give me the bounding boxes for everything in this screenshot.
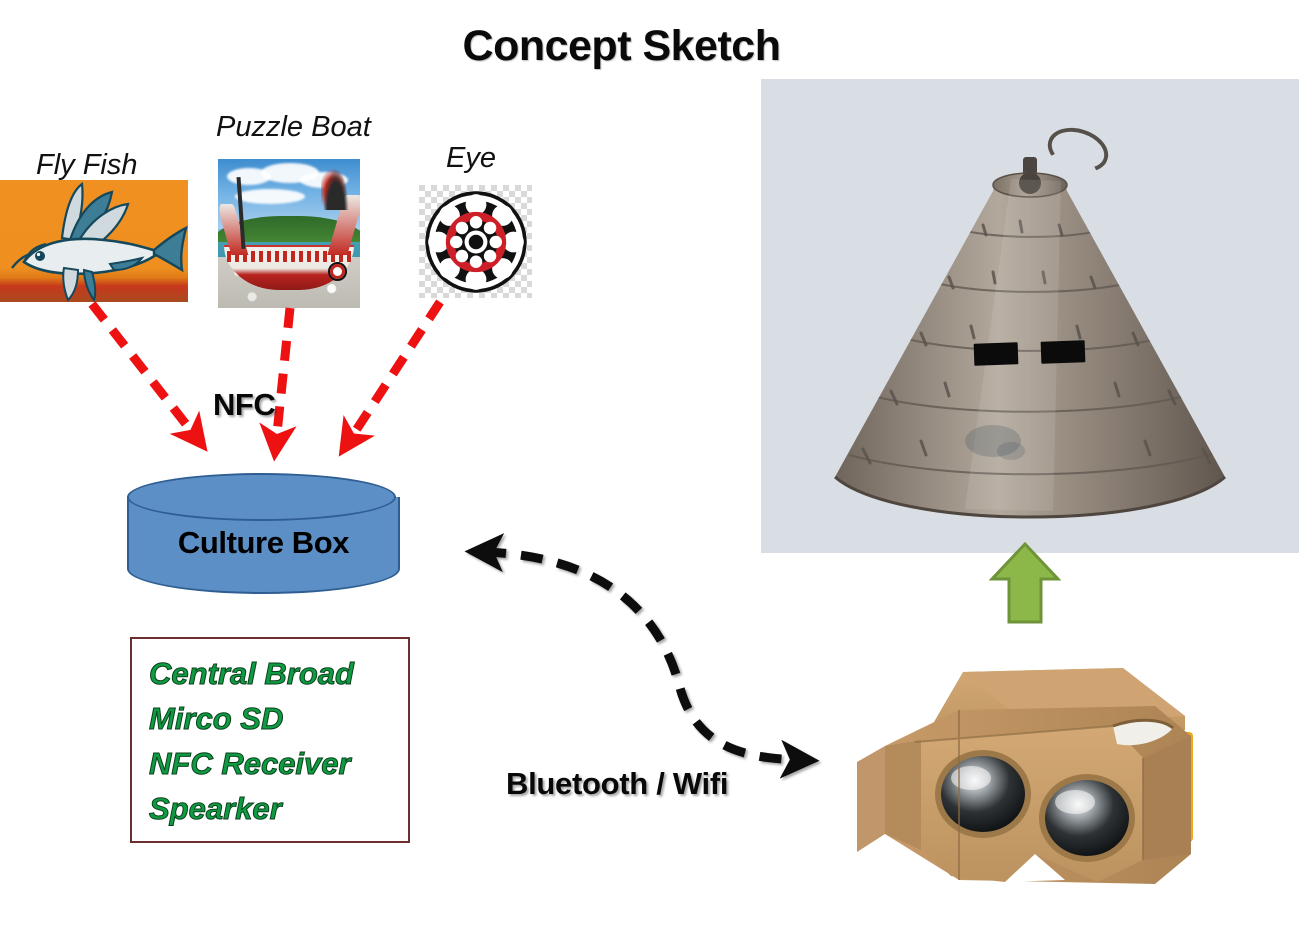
silver-conical-helmet-photo	[761, 79, 1299, 553]
eye-of-the-boat-icon	[424, 190, 528, 294]
helmet-eye-slit-right	[1041, 340, 1086, 364]
source-label-puzzle-boat: Puzzle Boat	[216, 111, 371, 144]
tao-canoe-photo-image	[218, 159, 360, 308]
vr-lens-left	[941, 756, 1025, 832]
vr-lens-right	[1045, 780, 1129, 856]
flying-fish-painting-image	[0, 180, 188, 302]
spec-list-item: Central Broad	[149, 651, 408, 696]
spec-list-item: Mirco SD	[149, 696, 408, 741]
source-label-eye: Eye	[446, 142, 496, 175]
slide-canvas: Concept Sketch Fly Fish Puzzle Boat Eye	[0, 0, 1299, 931]
boat-prow-plume	[321, 162, 351, 210]
boat-eye-symbol-image	[419, 185, 532, 298]
culture-box-cylinder[interactable]: Culture Box	[127, 473, 400, 616]
upload-arrow-icon	[989, 541, 1061, 625]
page-title-text: Concept Sketch	[463, 22, 781, 70]
spec-list-item: NFC Receiver	[149, 741, 408, 786]
fly-fish-icon	[0, 180, 188, 302]
nfc-arrow-fly-fish	[92, 304, 196, 437]
spec-list: Central Broad Mirco SD NFC Receiver Spea…	[132, 639, 408, 831]
helmet-cone	[815, 159, 1245, 531]
page-title: Concept Sketch	[0, 22, 1299, 71]
cardboard-vr-viewer-photo	[855, 654, 1255, 914]
nfc-arrow-eye	[349, 302, 440, 441]
helmet-eye-slit-left	[974, 342, 1019, 366]
spec-list-item: Spearker	[149, 786, 408, 831]
cloud	[235, 189, 305, 204]
bluetooth-wifi-label: Bluetooth / Wifi	[506, 766, 728, 802]
boat-eye-emblem	[328, 262, 347, 281]
nfc-arrow-puzzle-boat	[276, 308, 290, 443]
nfc-label: NFC	[213, 387, 275, 423]
cylinder-top-ellipse	[127, 473, 396, 521]
source-label-fly-fish: Fly Fish	[36, 149, 138, 182]
culture-box-label: Culture Box	[127, 525, 400, 561]
spec-box: Central Broad Mirco SD NFC Receiver Spea…	[130, 637, 410, 843]
